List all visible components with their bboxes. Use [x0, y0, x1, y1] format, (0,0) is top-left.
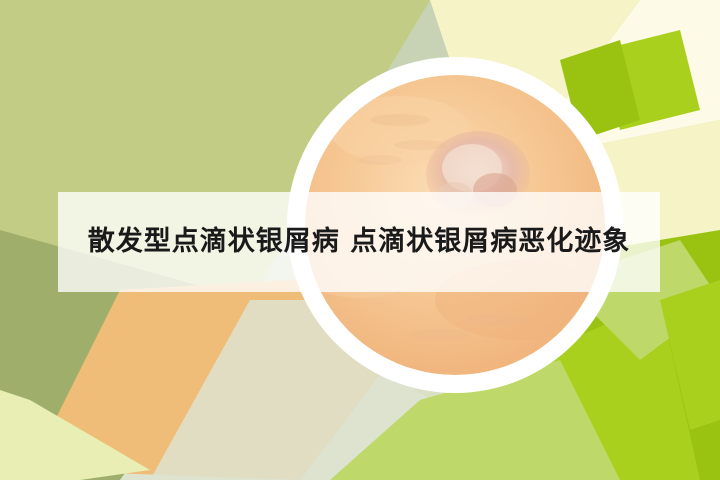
poster-canvas: 散发型点滴状银屑病 点滴状银屑病恶化迹象	[0, 0, 720, 480]
title-band: 散发型点滴状银屑病 点滴状银屑病恶化迹象	[58, 192, 660, 292]
skin-texture-line-5	[410, 329, 470, 341]
skin-texture-line-3	[358, 155, 402, 165]
skin-texture-line-1	[370, 114, 430, 126]
skin-texture-line-4	[466, 314, 534, 326]
page-title: 散发型点滴状银屑病 点滴状银屑病恶化迹象	[88, 226, 630, 258]
skin-texture-line-2	[394, 140, 446, 150]
